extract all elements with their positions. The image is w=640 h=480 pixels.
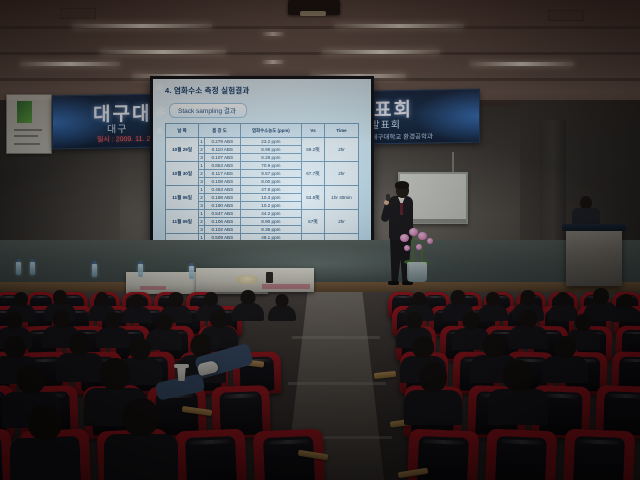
orchid-bloom [427, 238, 433, 244]
audience-shoulders [488, 389, 548, 425]
audience-head [100, 358, 130, 390]
table-cell-vs: 67笺 [301, 210, 324, 234]
table-cell-ppm: 47.8 ppm [240, 186, 301, 194]
audience-head [130, 294, 144, 308]
water-bottle [30, 262, 35, 275]
audience-shoulders [404, 390, 462, 425]
orchid-pot [407, 262, 427, 282]
projector-lens-icon [300, 11, 326, 16]
banner-subtitle-right: 발표회 [370, 116, 401, 131]
orchid-stem [421, 240, 423, 264]
presenter-tie [400, 203, 403, 215]
aisle-step [292, 336, 380, 339]
audience-head [53, 290, 67, 305]
table-cell-vs: 53.8笺 [301, 186, 324, 210]
water-bottle [92, 264, 97, 277]
seat [175, 429, 248, 480]
ceiling-beam [0, 52, 640, 55]
wall-poster [6, 94, 52, 154]
table-cell-abs: 0.102 ABS [204, 226, 240, 234]
audience-head [6, 312, 23, 329]
table-header-row: 날 짜흡 광 도염화수소농도 (ppm)VsTime [166, 124, 359, 138]
table-cell-abs: 0.117 ABS [204, 170, 240, 178]
ceiling-light [334, 24, 464, 28]
table-header-cell: 염화수소농도 (ppm) [240, 124, 301, 138]
audience-head [156, 314, 173, 331]
wall-hook [452, 152, 454, 172]
table-cell-ppm: 8.35 ppm [240, 226, 301, 234]
banner-subtitle-left: 대구 [107, 120, 127, 135]
auditorium-photo: 대구대 발표회 대구 발표회 일시 : 2009. 11. 20 대구대학교 환… [0, 0, 640, 480]
seat [563, 429, 636, 480]
orchid-bloom [400, 234, 409, 242]
results-table: 날 짜흡 광 도염화수소농도 (ppm)VsTime 10월 29일10.279… [165, 123, 359, 247]
snack-plate [236, 275, 258, 284]
table-cell-ppm: 70.9 ppm [240, 162, 301, 170]
audience-member [10, 404, 80, 480]
table-cell-abs: 0.107 ABS [204, 154, 240, 162]
snowflake-icon: ❄ [156, 127, 164, 136]
table-cell-abs: 0.190 ABS [204, 202, 240, 210]
water-bottle [138, 264, 143, 277]
audience-head [105, 312, 121, 329]
table-cloth [262, 284, 310, 289]
ceiling-light [262, 60, 284, 64]
snowflake-icon: ❄ [154, 105, 167, 120]
audience-head [4, 336, 26, 358]
audience-head [412, 292, 426, 306]
audience-head [17, 364, 45, 394]
audience-head [556, 292, 570, 306]
audience-head [412, 336, 434, 358]
audience-head [69, 332, 91, 355]
phone-device [211, 338, 219, 350]
audience-head [276, 294, 289, 307]
audience-head [406, 312, 423, 329]
table-cell-vs: 69.2笺 [301, 138, 324, 162]
table-row: 11월 09일10.547 ABS44.2 ppm67笺2hr [166, 210, 359, 218]
seat [485, 429, 558, 480]
table-cell-abs: 0.108 ABS [204, 178, 240, 186]
table-cell-abs: 0.110 ABS [204, 146, 240, 154]
audience-head [419, 362, 447, 392]
table-cell-ppm: 23.2 ppm [240, 138, 301, 146]
poster-text-line [14, 143, 40, 145]
audience-shoulders [10, 438, 80, 480]
table-header-cell: 날 짜 [166, 124, 199, 138]
audience-head [554, 336, 576, 358]
table-header-cell: Vs [301, 124, 324, 138]
ceiling-vent [60, 8, 96, 19]
presenter-shoe [388, 281, 399, 285]
orchid-bloom [404, 245, 410, 251]
table-row: 11월 06일10.463 ABS47.8 ppm53.8笺1hr 40min [166, 186, 359, 194]
table-cell-time: 2hr [325, 210, 359, 234]
seat-highlight [624, 331, 640, 334]
audience-member [268, 294, 296, 323]
table-cloth [140, 286, 166, 290]
table-item [266, 272, 273, 283]
table-cell-time: 2hr [325, 162, 359, 186]
table-cell-date: 11월 09일 [166, 210, 199, 234]
lectern [566, 228, 622, 286]
table-cell-time: 2hr [325, 138, 359, 162]
audience-head [14, 292, 28, 306]
audience-member [612, 294, 640, 324]
table-header-cell: Time [325, 124, 359, 138]
microphone-icon [386, 194, 390, 201]
banner-organization: 대구대학교 환경공학과 [371, 130, 433, 141]
audience-head [463, 312, 480, 330]
table-cell-time: 1hr 40min [325, 186, 359, 210]
table-cell-date: 10월 30일 [166, 162, 199, 186]
audience-head [96, 292, 109, 306]
table-cell-date: 10월 29일 [166, 138, 199, 162]
audience-head [204, 292, 218, 306]
orchid-bloom [416, 244, 422, 250]
audience-member [542, 336, 588, 385]
ceiling-light [100, 50, 226, 54]
table-cell-ppm: 10.3 ppm [240, 194, 301, 202]
table-header-cell: 흡 광 도 [199, 124, 241, 138]
water-bottle [16, 262, 21, 275]
audience-head [210, 310, 228, 328]
table-cell-date: 11월 06일 [166, 186, 199, 210]
audience-head [130, 338, 151, 360]
table-cell-ppm: 8.90 ppm [240, 218, 301, 226]
presentation-slide: ❄ ❄ ❄ 4. 염화수소 측정 실험결과 Stack sampling 결과 … [153, 79, 371, 247]
slide-bullet: Stack sampling 결과 [169, 103, 247, 118]
table-cell-abs: 0.106 ABS [204, 218, 240, 226]
table-cell-abs: 0.463 ABS [204, 186, 240, 194]
poster-text-line [14, 129, 42, 131]
table-cell-abs: 0.854 ABS [204, 162, 240, 170]
ceiling-vent [548, 10, 584, 21]
table-cell-ppm: 8.98 ppm [240, 146, 301, 154]
table-row: 10월 29일10.279 ABS23.2 ppm69.2笺2hr [166, 138, 359, 146]
audience-head [593, 288, 609, 304]
audience-head [521, 290, 536, 305]
audience-member [104, 398, 178, 480]
orchid-bloom [409, 228, 418, 236]
audience-head [619, 294, 633, 308]
table-cell-vs: 67.7笺 [301, 162, 324, 186]
audience-head [123, 398, 159, 436]
audience-head [53, 310, 70, 328]
ceiling-light [470, 62, 574, 66]
audience-head [28, 404, 62, 440]
table-cell-ppm: 8.00 ppm [240, 178, 301, 186]
banner-date: 일시 : 2009. 11. 20 [97, 134, 154, 145]
table-cell-abs: 0.198 ABS [204, 194, 240, 202]
water-bottle [189, 266, 194, 279]
audience-head [486, 292, 500, 306]
coffee-cup-lid [174, 364, 189, 368]
audience-head [451, 290, 466, 305]
table-cell-ppm: 10.2 ppm [240, 202, 301, 210]
audience-shoulders [612, 306, 640, 322]
orchid-stem [412, 236, 414, 264]
audience-head [519, 310, 537, 328]
aisle-step [288, 382, 386, 385]
table-cell-ppm: 8.28 ppm [240, 154, 301, 162]
ceiling-light [20, 62, 120, 66]
audience-shoulders [104, 434, 178, 480]
audience-head [483, 334, 506, 357]
audience-member [488, 360, 548, 427]
audience-shoulders [542, 356, 588, 383]
table-cell-abs: 0.279 ABS [204, 138, 240, 146]
slide-title: 4. 염화수소 측정 실험결과 [165, 85, 250, 96]
table-cell-ppm: 9.57 ppm [240, 170, 301, 178]
snowflake-icon: ❄ [155, 83, 164, 94]
poster-logo-icon [17, 101, 32, 123]
audience-member [404, 362, 462, 427]
projection-screen: ❄ ❄ ❄ 4. 염화수소 측정 실험결과 Stack sampling 결과 … [150, 76, 374, 250]
lectern-top [562, 224, 626, 231]
audience-head [241, 290, 256, 305]
orchid-bloom [418, 232, 427, 240]
audience-head [503, 360, 533, 391]
poster-text-line [14, 135, 38, 137]
ceiling-light [72, 24, 212, 28]
audience-head [575, 314, 591, 331]
table-cell-abs: 0.547 ABS [204, 210, 240, 218]
table-cell-ppm: 44.2 ppm [240, 210, 301, 218]
audience-head [169, 292, 184, 307]
audience-shoulders [268, 305, 296, 321]
presenter-hair [395, 181, 409, 189]
table-row: 10월 30일10.854 ABS70.9 ppm67.7笺2hr [166, 162, 359, 170]
ceiling-light [322, 50, 440, 54]
ceiling-light [262, 32, 284, 36]
